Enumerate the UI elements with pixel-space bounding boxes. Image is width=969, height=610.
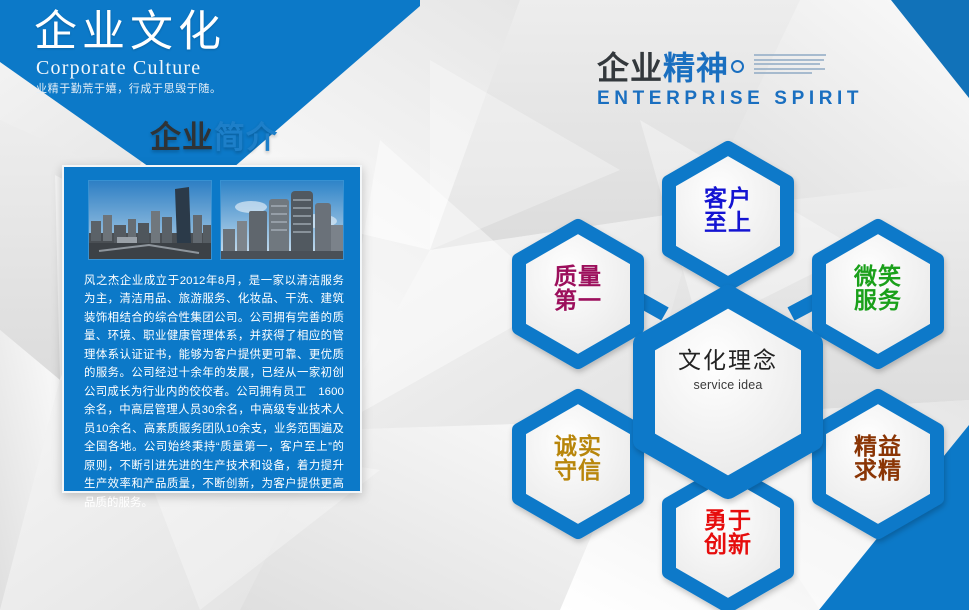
culture-hexagon-cluster: 客户 至上 质量 第一 微笑 服务 诚实 守信 精益 求精 勇于 创新 文化理念… — [487, 118, 969, 610]
company-intro-body: 风之杰企业成立于2012年8月，是一家以清洁服务为主，清洁用品、旅游服务、化妆品… — [84, 272, 344, 512]
company-intro-heading: 企业简介 — [150, 112, 278, 157]
hex-center — [644, 296, 812, 488]
spirit-heading-en: ENTERPRISE SPIRIT — [597, 88, 863, 110]
office-towers-photo — [220, 180, 344, 260]
banner-title-cn: 企业文化 — [34, 8, 394, 57]
hex-excellence — [819, 396, 937, 532]
intro-heading-blue: 简介 — [214, 120, 278, 155]
card-photo-strip — [88, 180, 344, 260]
circle-dot-icon — [731, 60, 744, 73]
hex-integrity — [519, 396, 637, 532]
banner-title-en: Corporate Culture — [36, 57, 396, 80]
spirit-heading-part1: 企业 — [597, 50, 663, 86]
intro-heading-dark: 企业 — [150, 120, 214, 155]
spirit-heading-part2: 精神 — [663, 50, 729, 86]
city-skyline-photo — [88, 180, 212, 260]
hex-customer-first — [669, 148, 787, 284]
poster-canvas: 企业文化 Corporate Culture 业精于勤荒于嬉，行成于思毁于随。 … — [0, 0, 969, 610]
enterprise-spirit-heading: 企业精神 ENTERPRISE SPIRIT — [597, 52, 863, 110]
company-intro-card: 风之杰企业成立于2012年8月，是一家以清洁服务为主，清洁用品、旅游服务、化妆品… — [62, 165, 362, 493]
banner-motto: 业精于勤荒于嬉，行成于思毁于随。 — [36, 80, 396, 96]
decorative-text-lines — [754, 54, 828, 77]
hex-smile-service — [819, 226, 937, 362]
hex-quality-first — [519, 226, 637, 362]
